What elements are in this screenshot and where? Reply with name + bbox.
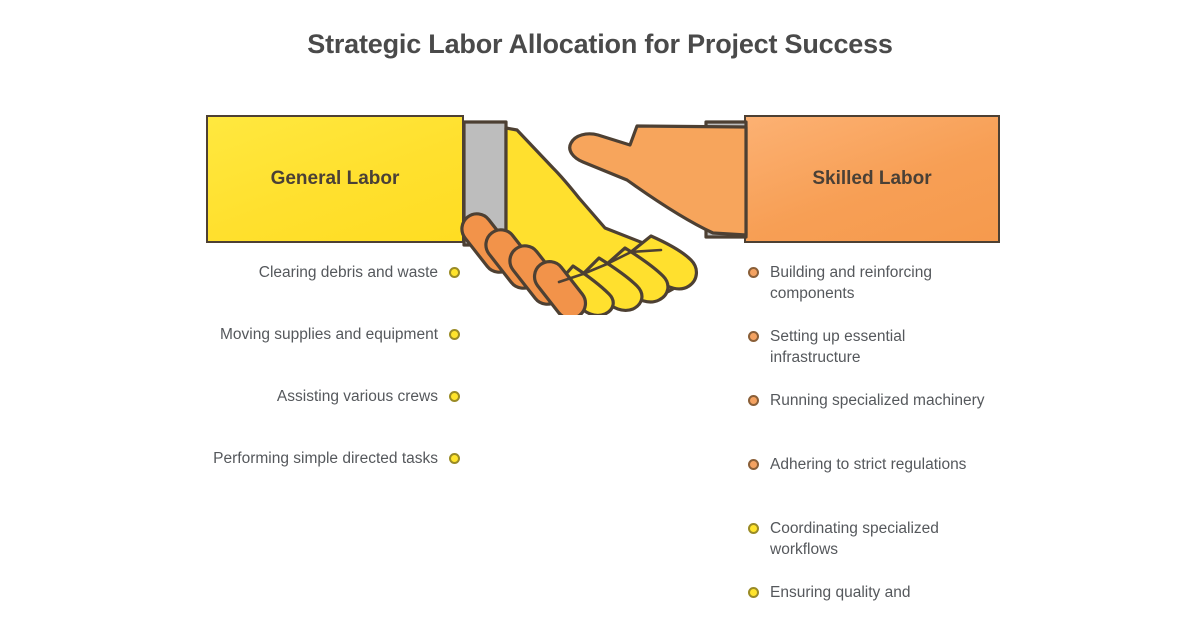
bullet-icon [449,453,460,464]
bullet-icon [748,523,759,534]
list-item: Moving supplies and equipment [180,324,460,366]
list-item: Adhering to strict regulations [748,454,1010,498]
list-item-label: Adhering to strict regulations [770,454,966,475]
list-item-label: Ensuring quality and [770,582,910,603]
list-item-label: Setting up essential infrastructure [770,326,992,368]
list-item: Building and reinforcing components [748,262,1010,306]
general-labor-task-list: Clearing debris and waste Moving supplie… [180,262,460,510]
bullet-icon [449,329,460,340]
list-item-label: Running specialized machinery [770,390,985,411]
bullet-icon [748,331,759,342]
handshake-illustration [455,100,755,315]
list-item: Performing simple directed tasks [180,448,460,490]
list-item-label: Moving supplies and equipment [220,324,438,345]
banner-right-label: Skilled Labor [812,168,931,190]
list-item-label: Coordinating specialized workflows [770,518,992,560]
bullet-icon [748,587,759,598]
list-item-label: Building and reinforcing components [770,262,992,304]
bullet-icon [449,267,460,278]
list-item: Setting up essential infrastructure [748,326,1010,370]
banner-left-label: General Labor [271,168,400,190]
list-item: Coordinating specialized workflows [748,518,1010,562]
banner-skilled-labor: Skilled Labor [744,115,1000,243]
bullet-icon [748,395,759,406]
bullet-icon [748,459,759,470]
list-item: Running specialized machinery [748,390,1010,434]
list-item-label: Assisting various crews [277,386,438,407]
list-item: Assisting various crews [180,386,460,428]
page-title: Strategic Labor Allocation for Project S… [0,29,1200,60]
banner-general-labor: General Labor [206,115,464,243]
list-item: Ensuring quality and [748,582,1010,626]
skilled-labor-task-list: Building and reinforcing components Sett… [748,262,1010,630]
list-item-label: Performing simple directed tasks [213,448,438,469]
bullet-icon [449,391,460,402]
infographic-canvas: Strategic Labor Allocation for Project S… [0,0,1200,630]
bullet-icon [748,267,759,278]
list-item: Clearing debris and waste [180,262,460,304]
list-item-label: Clearing debris and waste [259,262,438,283]
